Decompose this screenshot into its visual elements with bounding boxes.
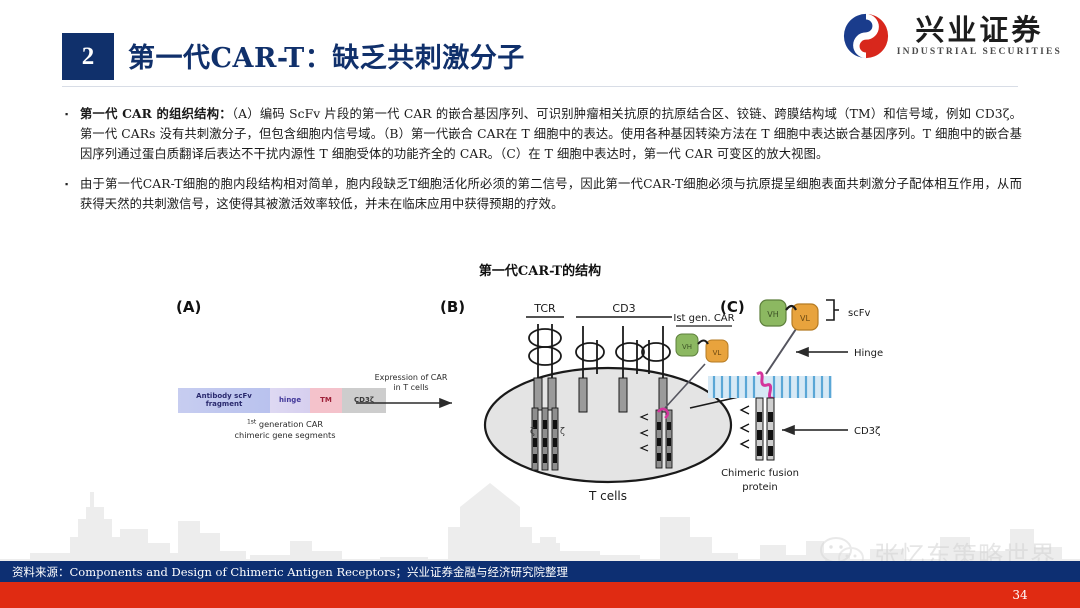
figure-vector-art: TCR CD3 ζ ζ [160, 290, 930, 505]
bullet-text: 第一代 CAR 的组织结构：（A）编码 ScFv 片段的第一代 CAR 的嵌合基… [80, 104, 1022, 164]
logo-wordmark: 兴业证券 INDUSTRIAL SECURITIES [897, 15, 1062, 56]
source-text: 资料来源：Components and Design of Chimeric A… [0, 564, 568, 580]
cd3zeta-chain-c [741, 398, 774, 460]
cd3-tm-1 [579, 378, 587, 412]
label-tcr: TCR [533, 302, 556, 315]
label-zeta-1: ζ [530, 427, 535, 437]
linker-c [786, 306, 796, 310]
car-t-structure-figure: (A) Antibody scFv fragment hinge TM CD3ζ… [160, 290, 930, 505]
label-vh-c: VH [767, 310, 779, 319]
label-vh-b: VH [682, 343, 692, 351]
linker-b [698, 341, 708, 345]
company-logo: 兴业证券 INDUSTRIAL SECURITIES [843, 13, 1062, 59]
panel-c-letter: (C) [720, 298, 745, 316]
logo-chinese-name: 兴业证券 [915, 15, 1043, 45]
tcr-tm-1 [534, 378, 542, 410]
scfv-bracket-icon [826, 300, 839, 320]
zeta-chain-cluster-left [532, 408, 558, 470]
label-zeta-2: ζ [560, 427, 565, 437]
bullet-lead: 第一代 CAR 的组织结构： [80, 106, 232, 121]
swirl-logo-icon [843, 13, 889, 59]
bullet-item: 由于第一代CAR-T细胞的胞内段结构相对简单，胞内段缺乏T细胞活化所必须的第二信… [62, 174, 1022, 214]
cd3-tm-2 [619, 378, 627, 412]
tcr-tm-2 [548, 378, 556, 410]
figure-title: 第一代CAR-T的结构 [0, 260, 1080, 279]
label-vl-c: VL [800, 314, 810, 323]
label-fusion-line-1: Chimeric fusion [721, 468, 799, 479]
label-t-cells: T cells [588, 489, 627, 503]
bullet-marker-icon [62, 104, 80, 124]
label-fusion-line-2: protein [742, 482, 778, 493]
page-number: 34 [960, 582, 1080, 608]
label-vl-b: VL [713, 349, 722, 357]
bullet-body-text: 由于第一代CAR-T细胞的胞内段结构相对简单，胞内段缺乏T细胞活化所必须的第二信… [80, 177, 1022, 211]
page-title: 第一代CAR-T：缺乏共刺激分子 [128, 36, 525, 75]
bullet-marker-icon [62, 174, 80, 194]
panel-b-letter: (B) [440, 298, 465, 316]
source-bar: 资料来源：Components and Design of Chimeric A… [0, 561, 1080, 582]
header-divider [62, 86, 1018, 87]
hinge-stalk-c [766, 326, 798, 374]
slide-root: 2 第一代CAR-T：缺乏共刺激分子 兴业证券 INDUSTRIAL SECUR… [0, 0, 1080, 608]
bullet-item: 第一代 CAR 的组织结构：（A）编码 ScFv 片段的第一代 CAR 的嵌合基… [62, 104, 1022, 164]
footer-bar [0, 582, 1080, 608]
body-content: 第一代 CAR 的组织结构：（A）编码 ScFv 片段的第一代 CAR 的嵌合基… [62, 104, 1022, 224]
t-cell-body [485, 368, 731, 482]
label-hinge: Hinge [854, 348, 883, 359]
label-cd3: CD3 [612, 302, 635, 315]
label-scfv: scFv [848, 308, 870, 319]
label-cd3zeta: CD3ζ [854, 426, 880, 437]
section-number-badge: 2 [62, 33, 114, 80]
bullet-text: 由于第一代CAR-T细胞的胞内段结构相对简单，胞内段缺乏T细胞活化所必须的第二信… [80, 174, 1022, 214]
logo-english-name: INDUSTRIAL SECURITIES [897, 47, 1062, 57]
